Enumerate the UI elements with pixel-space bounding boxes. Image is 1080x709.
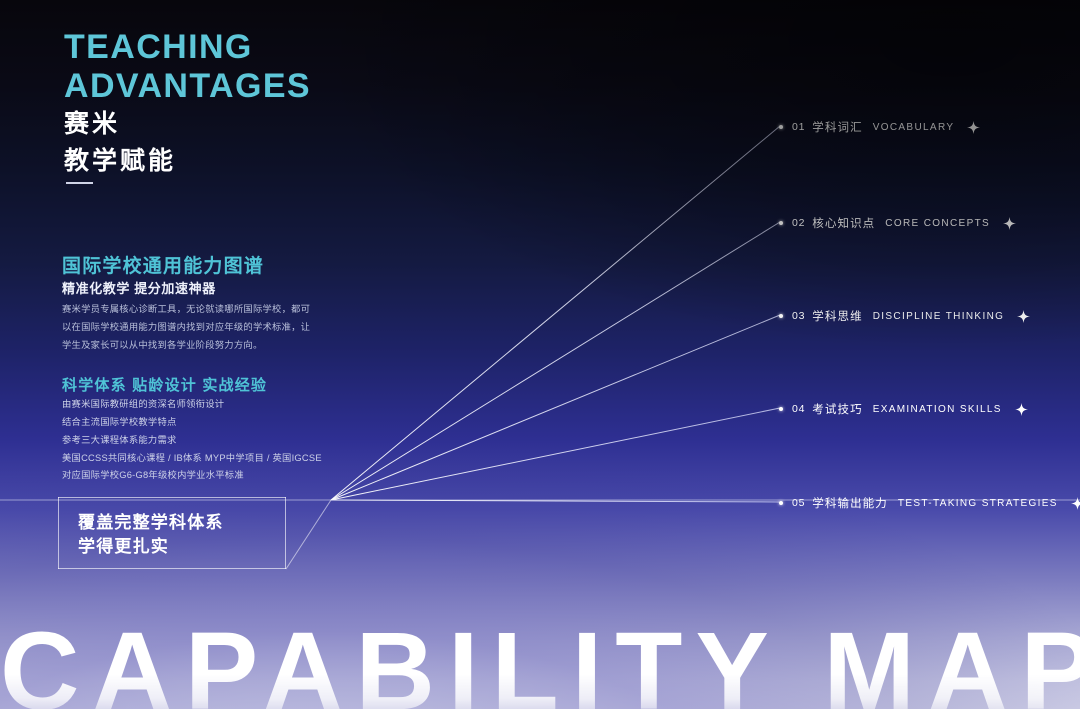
sparkle-icon [1071, 497, 1080, 510]
sparkle-icon [967, 121, 980, 134]
capability-item-02[interactable]: 02 核心知识点 CORE CONCEPTS [779, 215, 1016, 231]
capability-item-04[interactable]: 04 考试技巧 EXAMINATION SKILLS [779, 401, 1028, 417]
capability-label-cn: 考试技巧 [812, 401, 862, 417]
capability-number: 04 [792, 403, 805, 415]
capability-label-en: CORE CONCEPTS [885, 218, 990, 229]
bullet-dot-icon [779, 407, 783, 411]
capability-label-cn: 学科输出能力 [812, 495, 888, 511]
capability-label-cn: 学科思维 [812, 308, 862, 324]
capability-list: 01 学科词汇 VOCABULARY 02 核心知识点 CORE CONCEPT… [0, 0, 1080, 709]
capability-label-cn: 核心知识点 [812, 215, 875, 231]
capability-label-en: VOCABULARY [873, 122, 955, 133]
capability-map-poster: TEACHING ADVANTAGES 赛米 教学赋能 国际学校通用能力图谱 精… [0, 0, 1080, 709]
capability-number: 01 [792, 121, 805, 133]
bullet-dot-icon [779, 125, 783, 129]
footer-wordmark: CAPABILITY MAP [0, 617, 1080, 709]
capability-label-cn: 学科词汇 [812, 119, 862, 135]
bullet-dot-icon [779, 221, 783, 225]
bullet-dot-icon [779, 314, 783, 318]
sparkle-icon [1003, 217, 1016, 230]
bullet-dot-icon [779, 501, 783, 505]
capability-label-en: EXAMINATION SKILLS [873, 404, 1002, 415]
capability-label-en: TEST-TAKING STRATEGIES [898, 498, 1058, 509]
capability-item-03[interactable]: 03 学科思维 DISCIPLINE THINKING [779, 308, 1030, 324]
capability-number: 05 [792, 497, 805, 509]
capability-item-01[interactable]: 01 学科词汇 VOCABULARY [779, 119, 980, 135]
capability-label-en: DISCIPLINE THINKING [873, 311, 1005, 322]
capability-number: 03 [792, 310, 805, 322]
sparkle-icon [1017, 310, 1030, 323]
capability-number: 02 [792, 217, 805, 229]
sparkle-icon [1015, 403, 1028, 416]
capability-item-05[interactable]: 05 学科输出能力 TEST-TAKING STRATEGIES [779, 495, 1080, 511]
